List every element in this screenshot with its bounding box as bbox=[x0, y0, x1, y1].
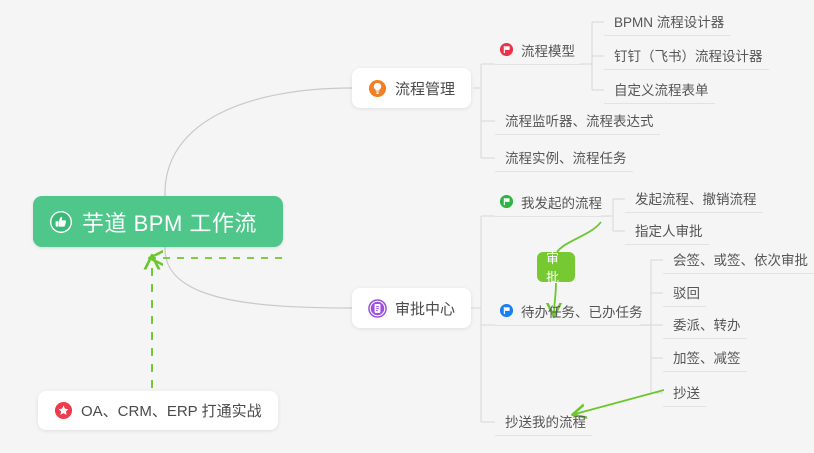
node-label-todo-done-tasks: 待办任务、已办任务 bbox=[521, 301, 643, 321]
leaf-label-add-remove-sign: 加签、减签 bbox=[673, 347, 741, 367]
branch-node-approval-center[interactable]: 审批中心 bbox=[352, 288, 471, 328]
approve-badge-label: 审批 bbox=[546, 248, 566, 286]
leaf-assignee-approval[interactable]: 指定人审批 bbox=[625, 218, 709, 245]
node-label-cc-to-me: 抄送我的流程 bbox=[505, 411, 586, 431]
node-flow-listener[interactable]: 流程监听器、流程表达式 bbox=[495, 108, 660, 135]
branch-label-approval-center: 审批中心 bbox=[395, 298, 455, 319]
approve-badge: 审批 bbox=[537, 252, 575, 282]
leaf-dingtalk-designer[interactable]: 钉钉（飞书）流程设计器 bbox=[604, 43, 769, 70]
branch-node-flow-management[interactable]: 流程管理 bbox=[352, 68, 471, 108]
flag-icon bbox=[499, 303, 514, 318]
leaf-label-bpmn-designer: BPMN 流程设计器 bbox=[614, 11, 724, 31]
star-icon bbox=[54, 401, 73, 420]
leaf-start-cancel-flow[interactable]: 发起流程、撤销流程 bbox=[625, 186, 763, 213]
node-flow-instance[interactable]: 流程实例、流程任务 bbox=[495, 145, 633, 172]
leaf-label-custom-form: 自定义流程表单 bbox=[614, 79, 709, 99]
leaf-cc[interactable]: 抄送 bbox=[663, 380, 706, 407]
leaf-label-start-cancel-flow: 发起流程、撤销流程 bbox=[635, 188, 757, 208]
leaf-delegate-transfer[interactable]: 委派、转办 bbox=[663, 312, 747, 339]
lightbulb-icon bbox=[368, 79, 387, 98]
node-label-flow-listener: 流程监听器、流程表达式 bbox=[505, 110, 654, 130]
leaf-label-cc: 抄送 bbox=[673, 382, 700, 402]
flag-icon bbox=[499, 42, 514, 57]
node-label-my-started-flows: 我发起的流程 bbox=[521, 192, 602, 212]
thumbs-up-icon bbox=[49, 210, 73, 234]
node-my-started-flows[interactable]: 我发起的流程 bbox=[495, 190, 608, 217]
leaf-add-remove-sign[interactable]: 加签、减签 bbox=[663, 345, 747, 372]
bottom-note-label: OA、CRM、ERP 打通实战 bbox=[81, 400, 262, 421]
clipboard-icon bbox=[368, 299, 387, 318]
root-label: 芋道 BPM 工作流 bbox=[82, 206, 257, 238]
leaf-countersign[interactable]: 会签、或签、依次审批 bbox=[663, 247, 814, 274]
node-label-flow-model: 流程模型 bbox=[521, 40, 575, 60]
branch-label-flow-management: 流程管理 bbox=[395, 78, 455, 99]
leaf-label-dingtalk-designer: 钉钉（飞书）流程设计器 bbox=[614, 45, 763, 65]
node-label-flow-instance: 流程实例、流程任务 bbox=[505, 147, 627, 167]
root-node[interactable]: 芋道 BPM 工作流 bbox=[33, 196, 283, 247]
flag-icon bbox=[499, 194, 514, 209]
bottom-note-card[interactable]: OA、CRM、ERP 打通实战 bbox=[38, 391, 278, 430]
leaf-reject[interactable]: 驳回 bbox=[663, 280, 706, 307]
leaf-label-delegate-transfer: 委派、转办 bbox=[673, 314, 741, 334]
node-todo-done-tasks[interactable]: 待办任务、已办任务 bbox=[495, 299, 649, 326]
leaf-label-reject: 驳回 bbox=[673, 282, 700, 302]
leaf-label-countersign: 会签、或签、依次审批 bbox=[673, 249, 808, 269]
node-flow-model[interactable]: 流程模型 bbox=[495, 38, 581, 65]
leaf-bpmn-designer[interactable]: BPMN 流程设计器 bbox=[604, 9, 730, 36]
leaf-custom-form[interactable]: 自定义流程表单 bbox=[604, 77, 715, 104]
node-cc-to-me[interactable]: 抄送我的流程 bbox=[495, 409, 592, 436]
mindmap-canvas: 芋道 BPM 工作流 流程管理 流程模型 BPMN 流程设计器 钉钉（飞书）流程 bbox=[0, 0, 814, 453]
leaf-label-assignee-approval: 指定人审批 bbox=[635, 220, 703, 240]
